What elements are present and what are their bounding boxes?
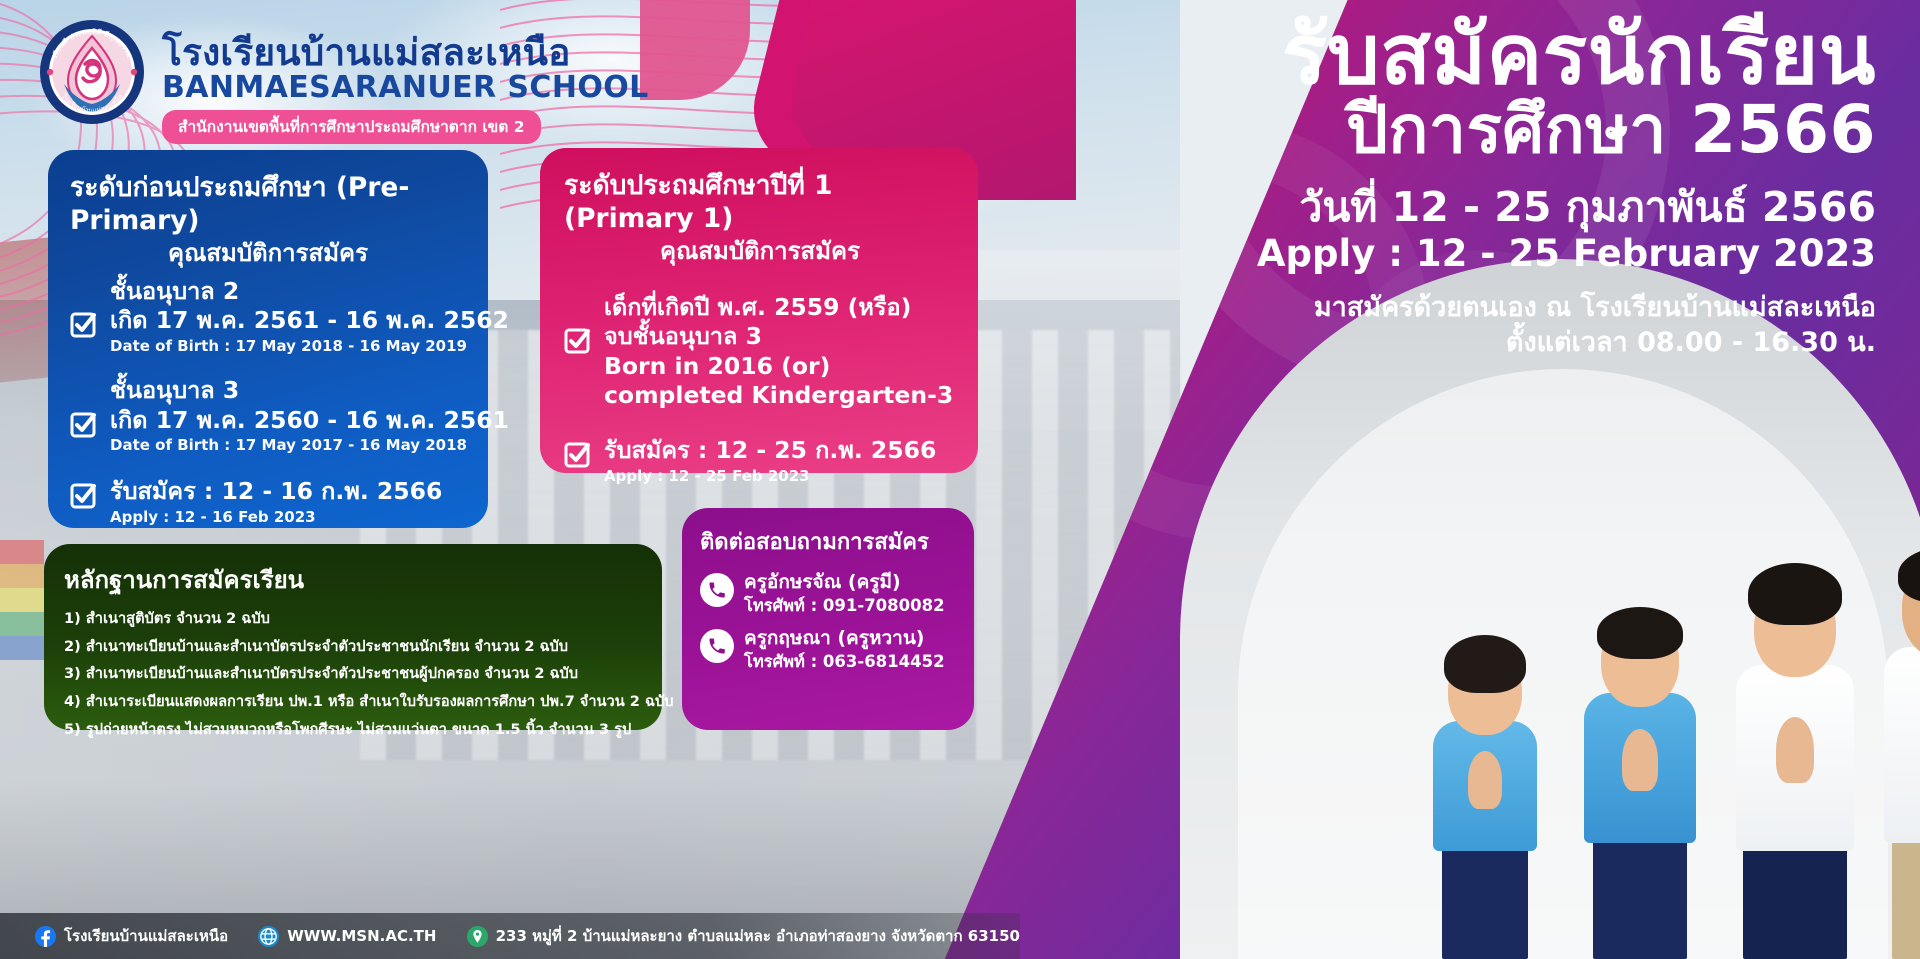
- rainbow-stripe-decoration: [0, 540, 44, 660]
- footer-address: 233 หมู่ที่ 2 บ้านแม่หละยาง ตำบลแม่หละ อ…: [466, 924, 1020, 948]
- phone-icon: [700, 629, 734, 663]
- pre-primary-level-2-name: ชั้นอนุบาล 3: [110, 376, 466, 405]
- documents-title: หลักฐานการสมัครเรียน: [64, 560, 644, 599]
- pre-primary-item-3-sub: Apply : 12 - 16 Feb 2023: [110, 508, 316, 526]
- list-item: 1) สำเนาสูติบัตร จำนวน 2 ฉบับ: [64, 605, 644, 633]
- checkbox-checked-icon: [70, 410, 98, 438]
- primary-one-subtitle: คุณสมบัติการสมัคร: [564, 236, 956, 267]
- contact-person-2: ครูกฤษณา (ครูหวาน) โทรศัพท์ : 063-681445…: [700, 627, 956, 673]
- phone-icon: [700, 573, 734, 607]
- pre-primary-item-1: เกิด 17 พ.ค. 2561 - 16 พ.ค. 2562 Date of…: [70, 306, 466, 356]
- footer-website-label: WWW.MSN.AC.TH: [287, 927, 436, 945]
- pre-primary-subtitle: คุณสมบัติการสมัคร: [70, 238, 466, 269]
- pre-primary-title: ระดับก่อนประถมศึกษา (Pre-Primary): [70, 172, 466, 238]
- checkbox-checked-icon: [564, 440, 592, 468]
- education-area-badge: สำนักงานเขตพื้นที่การศึกษาประถมศึกษาตาก …: [162, 110, 541, 144]
- list-item: 3) สำเนาทะเบียนบ้านและสำเนาบัตรประจำตัวป…: [64, 660, 644, 688]
- school-name-thai: โรงเรียนบ้านแม่สละเหนือ: [162, 34, 649, 72]
- footer-website[interactable]: WWW.MSN.AC.TH: [257, 925, 436, 948]
- checkbox-checked-icon: [70, 481, 98, 509]
- primary-one-title: ระดับประถมศึกษาปีที่ 1 (Primary 1): [564, 170, 956, 236]
- headline-primary: รับสมัครนักเรียน: [976, 14, 1876, 95]
- pre-primary-item-3: รับสมัคร : 12 - 16 ก.พ. 2566 Apply : 12 …: [70, 477, 466, 527]
- primary-one-item-2-sub: Apply : 12 - 25 Feb 2023: [604, 467, 810, 485]
- pre-primary-item-2-main: เกิด 17 พ.ค. 2560 - 16 พ.ค. 2561: [110, 406, 509, 434]
- headline-time: ตั้งแต่เวลา 08.00 - 16.30 น.: [976, 326, 1876, 361]
- headline-date-english: Apply : 12 - 25 February 2023: [976, 232, 1876, 276]
- school-crest-logo: เรียนดี ประพฤติดี มีคุณธรรม โรงเรียนบ้าน…: [38, 18, 146, 126]
- admission-poster: เรียนดี ประพฤติดี มีคุณธรรม โรงเรียนบ้าน…: [0, 0, 1920, 959]
- footer-address-label: 233 หมู่ที่ 2 บ้านแม่หละยาง ตำบลแม่หละ อ…: [496, 924, 1020, 948]
- pre-primary-item-3-main: รับสมัคร : 12 - 16 ก.พ. 2566: [110, 477, 442, 505]
- primary-one-item-1-level: เด็กที่เกิดปี พ.ศ. 2559 (หรือ): [604, 293, 956, 322]
- contact-person-2-phone[interactable]: โทรศัพท์ : 063-6814452: [744, 652, 945, 671]
- contact-person-1-name: ครูอักษรจัณ (ครูมี): [744, 571, 901, 593]
- primary-one-item-1-main: จบชั้นอนุบาล 3: [604, 322, 762, 350]
- primary-one-item-1: จบชั้นอนุบาล 3 Born in 2016 (or) complet…: [564, 322, 956, 410]
- card-pre-primary: ระดับก่อนประถมศึกษา (Pre-Primary) คุณสมบ…: [48, 150, 488, 528]
- primary-one-item-1-sub-en-2: completed Kindergarten-3: [604, 381, 953, 409]
- checkbox-checked-icon: [70, 310, 98, 338]
- headline-date-thai: วันที่ 12 - 25 กุมภาพันธ์ 2566: [976, 183, 1876, 231]
- student-1: [1410, 629, 1560, 959]
- footer-facebook[interactable]: โรงเรียนบ้านแม่สละเหนือ: [34, 924, 228, 948]
- primary-one-item-2: รับสมัคร : 12 - 25 ก.พ. 2566 Apply : 12 …: [564, 436, 956, 486]
- headline-academic-year: ปีการศึกษา 2566: [976, 95, 1876, 165]
- poster-header: เรียนดี ประพฤติดี มีคุณธรรม โรงเรียนบ้าน…: [38, 18, 649, 144]
- list-item: 5) รูปถ่ายหน้าตรง ไม่สวมหมวกหรือโพกศีรษะ…: [64, 716, 644, 744]
- location-pin-icon: [466, 925, 489, 948]
- pre-primary-item-1-sub: Date of Birth : 17 May 2018 - 16 May 201…: [110, 337, 467, 355]
- student-4: [1860, 499, 1920, 959]
- students-photo-group: [1160, 399, 1920, 959]
- pre-primary-level-1-name: ชั้นอนุบาล 2: [110, 277, 466, 306]
- contact-person-2-name: ครูกฤษณา (ครูหวาน): [744, 627, 925, 649]
- school-name-block: โรงเรียนบ้านแม่สละเหนือ BANMAESARANUER S…: [162, 18, 649, 144]
- contact-person-1-phone[interactable]: โทรศัพท์ : 091-7080082: [744, 596, 945, 615]
- student-3: [1712, 529, 1877, 959]
- primary-one-item-1-sub-en-1: Born in 2016 (or): [604, 352, 830, 380]
- pre-primary-item-2-sub: Date of Birth : 17 May 2017 - 16 May 201…: [110, 436, 467, 454]
- student-2: [1560, 569, 1720, 959]
- facebook-icon: [34, 925, 57, 948]
- pre-primary-item-2: เกิด 17 พ.ค. 2560 - 16 พ.ค. 2561 Date of…: [70, 406, 466, 456]
- headline-venue: มาสมัครด้วยตนเอง ณ โรงเรียนบ้านแม่สละเหน…: [976, 291, 1876, 326]
- checkbox-checked-icon: [564, 326, 592, 354]
- list-item: 2) สำเนาทะเบียนบ้านและสำเนาบัตรประจำตัวป…: [64, 633, 644, 661]
- contact-person-1: ครูอักษรจัณ (ครูมี) โทรศัพท์ : 091-70800…: [700, 571, 956, 617]
- list-item: 4) สำเนาระเบียนแสดงผลการเรียน ปพ.1 หรือ …: [64, 688, 644, 716]
- headline-block: รับสมัครนักเรียน ปีการศึกษา 2566 วันที่ …: [976, 14, 1876, 360]
- card-required-documents: หลักฐานการสมัครเรียน 1) สำเนาสูติบัตร จำ…: [44, 544, 662, 730]
- contact-title: ติดต่อสอบถามการสมัคร: [700, 524, 956, 559]
- pre-primary-item-1-main: เกิด 17 พ.ค. 2561 - 16 พ.ค. 2562: [110, 306, 509, 334]
- school-name-english: BANMAESARANUER SCHOOL: [162, 72, 649, 104]
- documents-list: 1) สำเนาสูติบัตร จำนวน 2 ฉบับ 2) สำเนาทะ…: [64, 605, 644, 744]
- globe-icon: [257, 925, 280, 948]
- poster-footer: โรงเรียนบ้านแม่สละเหนือ WWW.MSN.AC.TH: [0, 913, 1020, 959]
- footer-facebook-label: โรงเรียนบ้านแม่สละเหนือ: [64, 924, 228, 948]
- primary-one-item-2-main: รับสมัคร : 12 - 25 ก.พ. 2566: [604, 436, 936, 464]
- card-primary-one: ระดับประถมศึกษาปีที่ 1 (Primary 1) คุณสม…: [540, 148, 978, 473]
- card-contact: ติดต่อสอบถามการสมัคร ครูอักษรจัณ (ครูมี)…: [682, 508, 974, 730]
